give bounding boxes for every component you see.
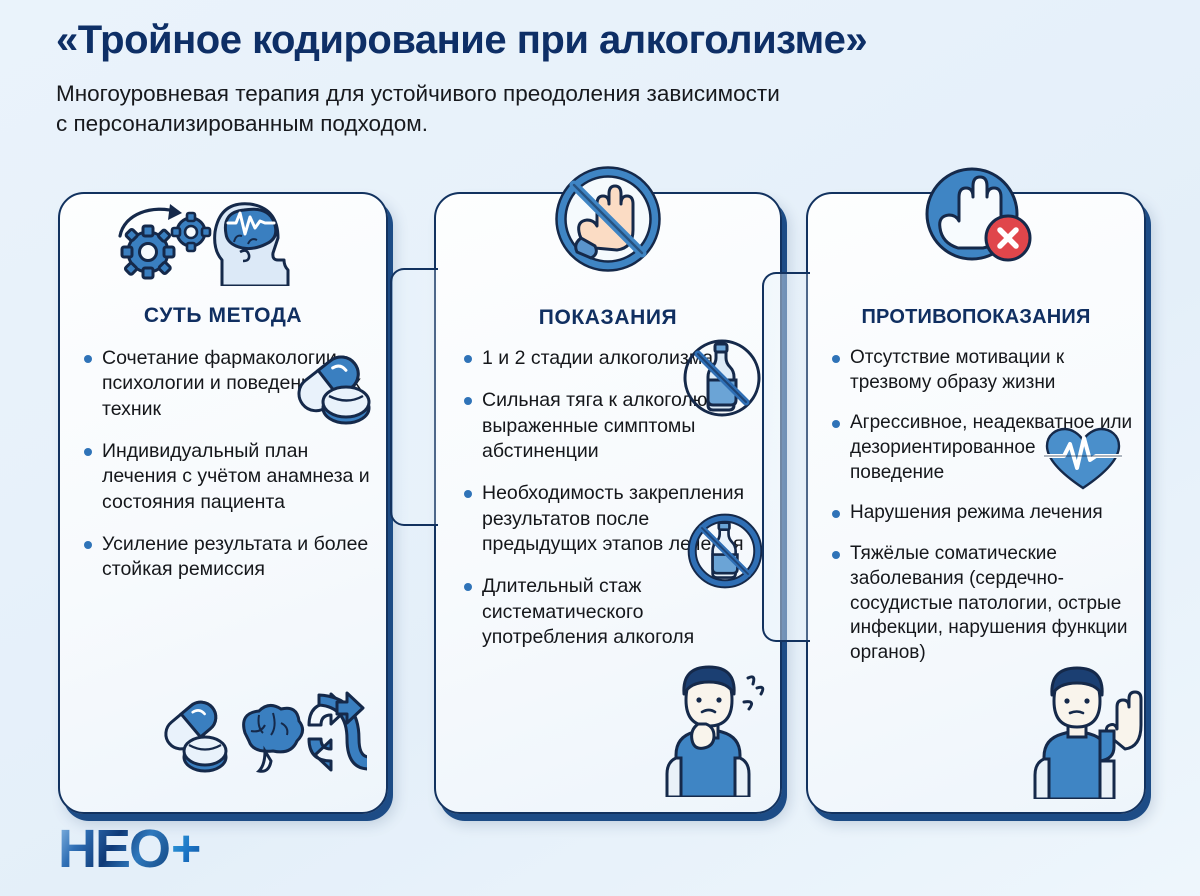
decor-row-pills-brain-arrows — [155, 687, 367, 784]
shuffle-arrows-icon — [309, 693, 367, 778]
card-pokazaniya[interactable]: ПОКАЗАНИЯ 1 и 2 стадии алкоголизма Сильн… — [434, 192, 782, 814]
card-sut-metoda[interactable]: СУТЬ МЕТОДА Сочетание фармакологии, псих… — [58, 192, 388, 814]
list-item: Отсутствие мотивации к трезвому образу ж… — [830, 346, 1134, 395]
logo-plus-icon: + — [171, 823, 201, 875]
list-item: Сочетание фармакологии, психологии и пов… — [82, 346, 370, 422]
connector-tab-left — [390, 268, 438, 526]
page-subtitle: Многоуровневая терапия для устойчивого п… — [56, 79, 1126, 139]
list-item: Необходимость закрепления результатов по… — [462, 481, 768, 557]
subtitle-line-1: Многоуровневая терапия для устойчивого п… — [56, 79, 1126, 109]
brand-logo[interactable]: НЕО + — [58, 822, 201, 876]
no-hand-prohibition-icon — [436, 160, 780, 264]
card-title-pokazaniya: ПОКАЗАНИЯ — [436, 306, 780, 330]
list-item: Усиление результата и более стойкая реми… — [82, 532, 370, 583]
card-title-sut-metoda: СУТЬ МЕТОДА — [60, 304, 386, 328]
list-item: Длительный стаж систематического употреб… — [462, 574, 768, 650]
gears-brain-head-icon — [60, 190, 386, 286]
page-title: «Тройное кодирование при алкоголизме» — [56, 18, 1156, 63]
brain-icon — [244, 705, 303, 771]
list-item: Нарушения режима лечения — [830, 501, 1134, 526]
connector-tab-left — [762, 272, 810, 642]
bullet-list-sut-metoda: Сочетание фармакологии, психологии и пов… — [82, 346, 370, 600]
list-item: Агрессивное, неадекватное или дезориенти… — [830, 411, 1134, 485]
card-protivopokazaniya[interactable]: ПРОТИВОПОКАЗАНИЯ Отсутствие мотивации к … — [806, 192, 1146, 814]
pill-capsule-tablet-icon — [160, 696, 226, 771]
list-item: Сильная тяга к алкоголю и выраженные сим… — [462, 388, 768, 464]
list-item: Тяжёлые соматические заболевания (сердеч… — [830, 542, 1134, 665]
bullet-list-pokazaniya: 1 и 2 стадии алкоголизма Сильная тяга к … — [462, 346, 768, 667]
worried-man-icon — [656, 662, 776, 802]
subtitle-line-2: с персонализированным подходом. — [56, 109, 1126, 139]
bullet-list-protivopokazaniya: Отсутствие мотивации к трезвому образу ж… — [830, 346, 1134, 682]
stop-hand-red-cross-icon — [808, 160, 1144, 264]
list-item: 1 и 2 стадии алкоголизма — [462, 346, 768, 371]
cards-row: СУТЬ МЕТОДА Сочетание фармакологии, псих… — [0, 192, 1200, 814]
infographic-page: «Тройное кодирование при алкоголизме» Мн… — [0, 0, 1200, 896]
header: «Тройное кодирование при алкоголизме» Мн… — [56, 18, 1156, 139]
list-item: Индивидуальный план лечения с учётом ана… — [82, 439, 370, 515]
card-title-protivopokazaniya: ПРОТИВОПОКАЗАНИЯ — [808, 306, 1144, 329]
logo-wordmark: НЕО — [58, 822, 169, 876]
